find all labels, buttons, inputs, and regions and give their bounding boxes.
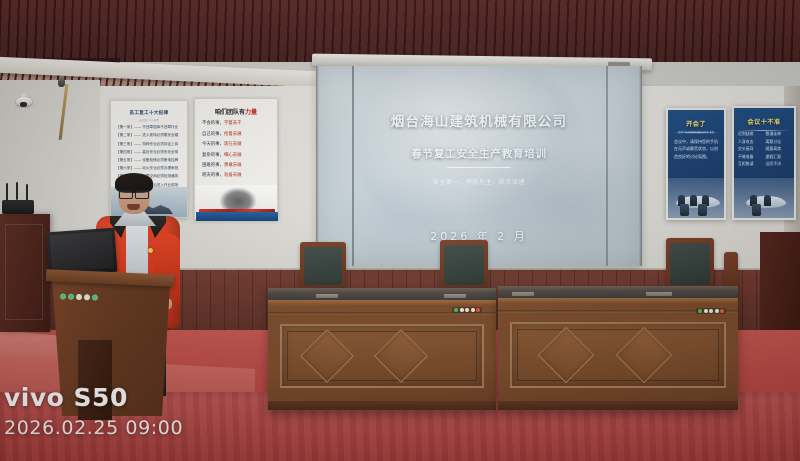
wireless-router (2, 200, 34, 214)
illustration-chair (698, 204, 707, 216)
lapel-badge (148, 248, 153, 253)
poster-line: 【第一条】—— 不违章指挥不违章作业 (116, 125, 182, 130)
led-indicator (454, 308, 458, 312)
conference-table-left (268, 288, 496, 410)
chair-backrest (440, 240, 488, 288)
poster-line-a: 自己的事， (202, 132, 224, 137)
conference-room-photo: 烟台海山建筑机械有限公司 春节复工安全生产教育培训 安全第一、预防为主、综合治理… (0, 0, 800, 461)
led-indicator (720, 309, 724, 313)
poster-line-b: 勇敢去做 (224, 163, 242, 168)
table-mat (316, 294, 338, 298)
wall-poster-meeting-rules: 会议十不准 迟到缺席 人身攻击 交头接耳 不做准备 互相推诿 散漫走神 离题讨论… (732, 106, 796, 220)
side-cabinet (0, 214, 50, 332)
table-edge (268, 300, 496, 305)
poster-title: 开会了 (668, 119, 724, 128)
slide-company-name: 烟台海山建筑机械有限公司 (316, 110, 642, 130)
poster-rule-columns: 迟到缺席 人身攻击 交头接耳 不做准备 互相推诿 散漫走神 离题讨论 随意离席 … (738, 130, 790, 168)
poster-line-b: 现在去做 (224, 142, 242, 147)
led-indicator (476, 308, 480, 312)
chair-cushion (444, 245, 484, 285)
poster-line-a: 困难的事， (202, 163, 224, 168)
router-antenna (6, 183, 8, 201)
poster-line: 【第六条】—— 动火作业必须办理审批 (116, 166, 182, 171)
poster-meeting-illustration (734, 178, 794, 218)
table-status-leds-right (696, 308, 726, 314)
led-indicator (715, 309, 719, 313)
chair-cushion (304, 247, 342, 285)
poster-line: 今天的事，现在去做 (202, 141, 270, 147)
poster-line: 困难的事，勇敢去做 (202, 162, 270, 168)
poster-line: 【第五条】—— 设备检修必须断电挂牌 (116, 158, 182, 163)
table-front-panel (280, 324, 484, 388)
led-indicator (709, 309, 713, 313)
table-base-trim (498, 401, 738, 410)
wall-poster-teamwork: 咱们团队有力量 不会的事，学着去干 自己的事，抢着去做 今天的事，现在去做 复杂… (194, 98, 278, 220)
poster-title-underline (738, 130, 790, 131)
poster-rule-column-b: 散漫走神 离题讨论 随意离席 虚假汇报 议而不决 (766, 130, 791, 168)
slide-content: 烟台海山建筑机械有限公司 春节复工安全生产教育培训 安全第一、预防为主、综合治理… (316, 66, 642, 266)
table-mat (444, 294, 466, 298)
poster-line-b: 细心去做 (224, 153, 242, 158)
poster-rule: 人身攻击 (738, 138, 763, 146)
cabinet-door[interactable] (5, 224, 43, 320)
poster-rule: 散漫走神 (766, 130, 791, 138)
microphone-icon (58, 78, 65, 87)
poster-rule-column-a: 迟到缺席 人身攻击 交头接耳 不做准备 互相推诿 (738, 130, 763, 168)
table-front-panel (510, 322, 726, 388)
watermark-timestamp: 2026.02.25 09:00 (4, 417, 183, 439)
table-base-trim (268, 401, 496, 410)
slide-subject: 春节复工安全生产教育培训 (316, 146, 642, 161)
poster-title: 会议十不准 (734, 117, 794, 126)
poster-title-underline (672, 132, 720, 133)
poster-rule: 离题讨论 (766, 138, 791, 146)
glasses-icon (119, 190, 149, 196)
illustration-person (764, 195, 771, 206)
poster-rule: 不做准备 (738, 153, 763, 161)
led-indicator (471, 308, 475, 312)
led-indicator (698, 309, 702, 313)
illustration-chair (680, 204, 689, 216)
led-indicator (460, 308, 464, 312)
led-indicator (465, 308, 469, 312)
watermark-brand: vivo S50 (4, 383, 128, 412)
poster-heading-plain: 咱们团队有 (215, 109, 245, 116)
surveillance-camera-icon (16, 97, 32, 106)
poster-rule: 迟到缺席 (738, 130, 763, 138)
chair-center-left[interactable] (300, 242, 346, 288)
led-indicator (68, 294, 74, 300)
poster-rule: 虚假汇报 (766, 153, 791, 161)
wall-poster-meeting-notice: 开会了 请将手机调至静音或振动状态 谢谢 会议中，请保持您的手机在无声或静音状态… (666, 108, 726, 220)
poster-line: 明天的事，准备去做 (202, 172, 270, 178)
poster-rule: 议而不决 (766, 160, 791, 168)
table-mat (512, 292, 534, 296)
poster-body: 会议中，请保持您的手机在无声或静音状态，以创造良好的讨论氛围。 (674, 138, 718, 160)
table-edge (498, 298, 738, 303)
led-indicator (76, 294, 82, 300)
led-indicator (704, 309, 708, 313)
poster-line: 【第二条】—— 进入现场必须戴安全帽 (116, 133, 182, 138)
poster-line-a: 复杂的事， (202, 153, 224, 158)
router-antenna (26, 184, 28, 202)
poster-meeting-illustration (668, 178, 724, 218)
poster-line: 【第四条】—— 高处作业必须系安全带 (116, 150, 182, 155)
poster-rule: 随意离席 (766, 145, 791, 153)
poster-line: 复杂的事，细心去做 (202, 152, 270, 158)
poster-line: 【第三条】—— 特种作业必须持证上岗 (116, 142, 182, 147)
poster-base-strip (196, 212, 278, 221)
poster-heading-group: 咱们团队有力量 (195, 107, 277, 116)
wooden-ceiling (0, 0, 800, 62)
poster-heading: 员工复工十大纪律 (117, 110, 181, 116)
slide-divider (447, 167, 511, 168)
poster-subheading: 安全生产 人人有责 (117, 118, 181, 122)
router-antenna (16, 182, 18, 200)
right-wall-wood-panel (760, 232, 800, 336)
poster-line-b: 准备去做 (224, 173, 242, 178)
poster-line-a: 明天的事， (202, 173, 224, 178)
slide-motto: 安全第一、预防为主、综合治理 (316, 177, 642, 186)
poster-line: 自己的事，抢着去做 (202, 131, 270, 137)
poster-rule: 交头接耳 (738, 145, 763, 153)
table-mat (646, 292, 672, 296)
poster-line: 不会的事，学着去干 (202, 120, 270, 126)
chair-cushion (670, 243, 710, 285)
led-indicator (84, 294, 90, 300)
led-indicator (60, 293, 66, 299)
chair-backrest (666, 238, 714, 288)
poster-heading-highlight: 力量 (245, 109, 257, 116)
led-indicator (92, 294, 98, 300)
illustration-chair (752, 204, 761, 216)
poster-line-b: 抢着去做 (224, 132, 242, 137)
chair-right-side[interactable] (666, 238, 714, 288)
chair-center-right[interactable] (440, 240, 488, 288)
chair-backrest (300, 242, 346, 288)
poster-rule: 互相推诿 (738, 160, 763, 168)
table-status-leds-left (452, 307, 482, 313)
mouth (127, 204, 140, 210)
poster-line-a: 今天的事， (202, 142, 224, 147)
illustration-person (690, 195, 697, 206)
podium-control-leds[interactable] (60, 293, 98, 300)
poster-line-b: 学着去干 (224, 121, 242, 126)
conference-table-right (498, 286, 738, 410)
poster-line-a: 不会的事， (202, 121, 224, 126)
projection-screen: 烟台海山建筑机械有限公司 春节复工安全生产教育培训 安全第一、预防为主、综合治理… (316, 66, 642, 266)
